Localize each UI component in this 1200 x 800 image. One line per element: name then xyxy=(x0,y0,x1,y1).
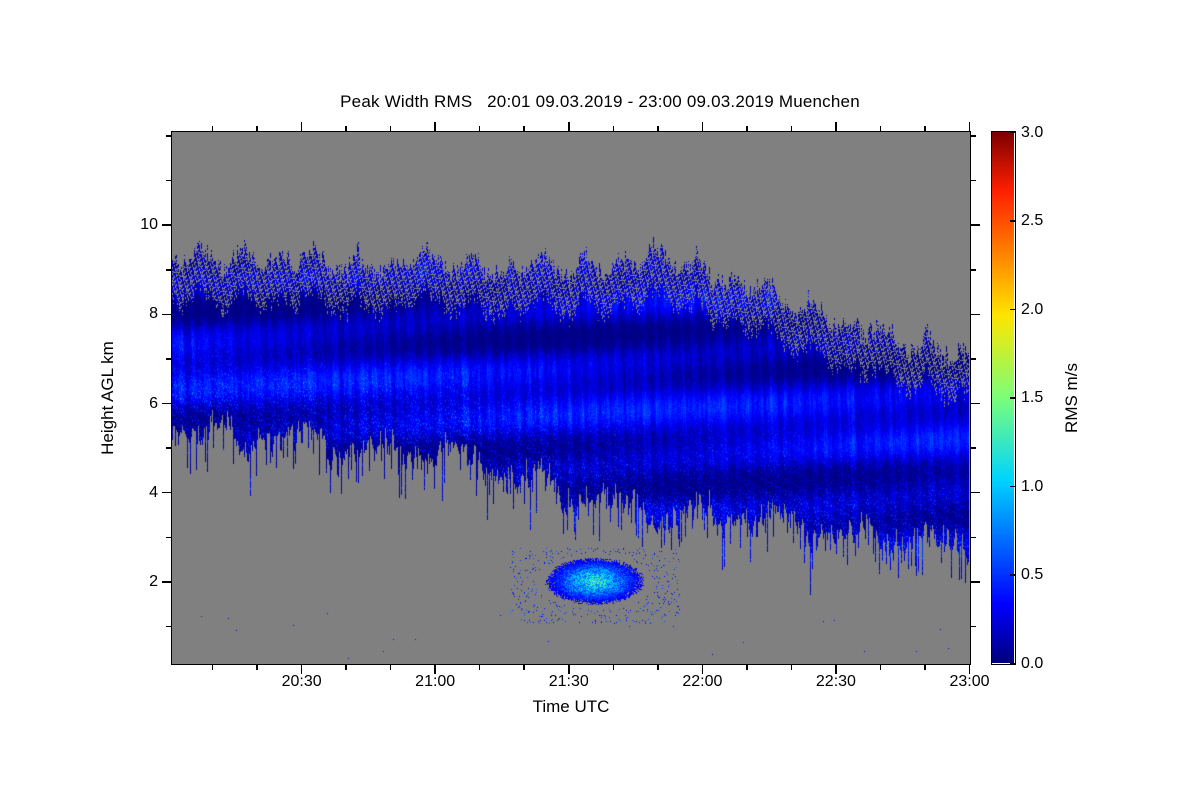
y-tick-4 xyxy=(162,492,171,494)
x-tick-label-4: 22:30 xyxy=(816,673,856,691)
x-tick-top-70 xyxy=(479,126,481,131)
x-tick-top-180 xyxy=(969,122,971,131)
x-tick-10 xyxy=(212,665,214,670)
x-tick-top-120 xyxy=(702,122,704,131)
x-tick-top-170 xyxy=(924,126,926,131)
y-tick-right-12 xyxy=(971,135,976,137)
cb-tick-4 xyxy=(1010,309,1015,311)
cb-tick-label-0: 0.0 xyxy=(1021,655,1043,673)
cb-tick-5 xyxy=(1010,220,1015,222)
y-tick-9 xyxy=(166,269,171,271)
y-tick-right-9 xyxy=(971,269,976,271)
y-tick-right-7 xyxy=(971,358,976,360)
x-tick-170 xyxy=(924,665,926,670)
cb-tick-label-3: 1.5 xyxy=(1021,389,1043,407)
y-tick-right-4 xyxy=(971,492,980,494)
y-tick-10 xyxy=(162,224,171,226)
lidar-figure: Peak Width RMS 20:01 09.03.2019 - 23:00 … xyxy=(0,0,1200,800)
heatmap-canvas xyxy=(172,132,969,663)
y-tick-label-3: 8 xyxy=(149,305,158,323)
y-tick-label-2: 6 xyxy=(149,395,158,413)
x-tick-label-2: 21:30 xyxy=(549,673,589,691)
x-tick-label-3: 22:00 xyxy=(682,673,722,691)
y-axis-title: Height AGL km xyxy=(98,341,118,455)
x-tick-label-0: 20:30 xyxy=(282,673,322,691)
y-tick-2 xyxy=(162,581,171,583)
y-tick-7 xyxy=(166,358,171,360)
cb-tick-label-4: 2.0 xyxy=(1021,301,1043,319)
y-tick-label-0: 2 xyxy=(149,573,158,591)
y-tick-right-1 xyxy=(971,626,976,628)
x-tick-top-30 xyxy=(301,122,303,131)
page-title: Peak Width RMS 20:01 09.03.2019 - 23:00 … xyxy=(0,92,1200,112)
x-tick-top-140 xyxy=(791,126,793,131)
y-tick-12 xyxy=(166,135,171,137)
x-tick-top-20 xyxy=(256,126,258,131)
x-tick-100 xyxy=(613,665,615,670)
x-tick-top-160 xyxy=(880,126,882,131)
y-tick-right-5 xyxy=(971,447,976,449)
x-axis-title: Time UTC xyxy=(171,697,971,717)
x-tick-top-130 xyxy=(746,126,748,131)
colorbar-title: RMS m/s xyxy=(1062,363,1082,433)
y-tick-11 xyxy=(166,180,171,182)
x-tick-80 xyxy=(523,665,525,670)
cb-tick-label-2: 1.0 xyxy=(1021,478,1043,496)
x-tick-110 xyxy=(657,665,659,670)
cb-tick-label-5: 2.5 xyxy=(1021,212,1043,230)
cb-tick-label-6: 3.0 xyxy=(1021,124,1043,142)
y-tick-right-11 xyxy=(971,180,976,182)
y-tick-label-4: 10 xyxy=(140,216,158,234)
x-tick-20 xyxy=(256,665,258,670)
cb-tick-3 xyxy=(1010,397,1015,399)
y-tick-right-6 xyxy=(971,403,980,405)
y-tick-1 xyxy=(166,626,171,628)
x-tick-top-150 xyxy=(835,122,837,131)
cb-tick-1 xyxy=(1010,574,1015,576)
y-tick-right-3 xyxy=(971,537,976,539)
x-tick-top-50 xyxy=(390,126,392,131)
y-tick-right-10 xyxy=(971,224,980,226)
x-tick-top-100 xyxy=(613,126,615,131)
x-tick-label-5: 23:00 xyxy=(949,673,989,691)
plot-area xyxy=(171,131,971,665)
x-tick-top-60 xyxy=(434,122,436,131)
x-tick-top-10 xyxy=(212,126,214,131)
y-tick-5 xyxy=(166,447,171,449)
y-tick-6 xyxy=(162,403,171,405)
x-tick-130 xyxy=(746,665,748,670)
x-tick-140 xyxy=(791,665,793,670)
x-tick-top-110 xyxy=(657,126,659,131)
x-tick-70 xyxy=(479,665,481,670)
x-tick-top-90 xyxy=(568,122,570,131)
x-tick-160 xyxy=(880,665,882,670)
cb-tick-6 xyxy=(1010,132,1015,134)
cb-tick-2 xyxy=(1010,486,1015,488)
cb-tick-label-1: 0.5 xyxy=(1021,566,1043,584)
x-tick-top-80 xyxy=(523,126,525,131)
y-tick-3 xyxy=(166,537,171,539)
cb-tick-0 xyxy=(1010,663,1015,665)
y-tick-label-1: 4 xyxy=(149,484,158,502)
x-tick-50 xyxy=(390,665,392,670)
x-tick-label-1: 21:00 xyxy=(415,673,455,691)
x-tick-40 xyxy=(345,665,347,670)
x-tick-top-40 xyxy=(345,126,347,131)
y-tick-8 xyxy=(162,314,171,316)
y-tick-right-2 xyxy=(971,581,980,583)
y-tick-right-8 xyxy=(971,314,980,316)
